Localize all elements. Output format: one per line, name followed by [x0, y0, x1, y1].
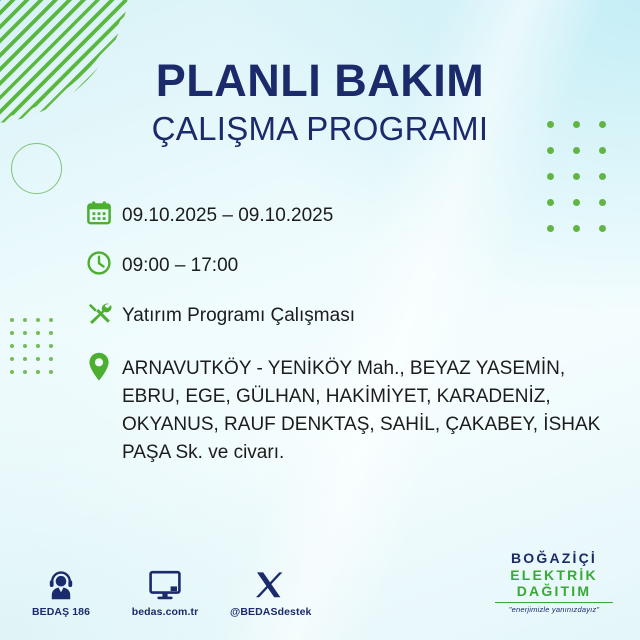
work-type-text: Yatırım Programı Çalışması [122, 300, 355, 328]
info-row-address: ARNAVUTKÖY - YENİKÖY Mah., BEYAZ YASEMİN… [86, 352, 606, 467]
address-text: ARNAVUTKÖY - YENİKÖY Mah., BEYAZ YASEMİN… [122, 352, 606, 467]
contact-label: @BEDASdestek [230, 606, 308, 618]
info-row-work-type: Yatırım Programı Çalışması [86, 300, 606, 334]
title-subtitle: ÇALIŞMA PROGRAMI [0, 110, 640, 148]
dot-grid-left-decoration [10, 318, 62, 383]
footer: BEDAŞ 186 bedas.com.tr [0, 544, 640, 624]
contact-call-center[interactable]: BEDAŞ 186 [22, 562, 100, 618]
title-main: PLANLI BAKIM [0, 58, 640, 104]
date-range-text: 09.10.2025 – 09.10.2025 [122, 200, 333, 228]
x-twitter-icon [230, 562, 308, 600]
location-pin-icon [86, 352, 122, 386]
planned-maintenance-poster: PLANLI BAKIM ÇALIŞMA PROGRAMI 09 [0, 0, 640, 640]
clock-icon [86, 250, 122, 284]
support-agent-icon [22, 562, 100, 600]
logo-tagline: "enerjimizle yanınızdayız" [484, 605, 624, 614]
logo-line-3: DAĞITIM [484, 583, 624, 600]
calendar-icon [86, 200, 122, 234]
contact-label: bedas.com.tr [126, 606, 204, 618]
contact-x-account[interactable]: @BEDASdestek [230, 562, 308, 618]
contact-website[interactable]: bedas.com.tr [126, 562, 204, 618]
bedas-logo: BOĞAZİÇİ ELEKTRİK DAĞITIM "enerjimizle y… [484, 550, 624, 614]
logo-divider [495, 602, 613, 603]
info-row-time: 09:00 – 17:00 [86, 250, 606, 284]
logo-line-1: BOĞAZİÇİ [484, 550, 624, 567]
logo-line-2: ELEKTRİK [484, 567, 624, 584]
circle-outline-decoration [11, 143, 62, 194]
contact-list: BEDAŞ 186 bedas.com.tr [22, 562, 308, 618]
tools-icon [86, 300, 122, 334]
monitor-icon [126, 562, 204, 600]
info-row-date: 09.10.2025 – 09.10.2025 [86, 200, 606, 234]
contact-label: BEDAŞ 186 [22, 606, 100, 618]
info-list: 09.10.2025 – 09.10.2025 09:00 – 17:00 Ya… [86, 200, 606, 481]
time-range-text: 09:00 – 17:00 [122, 250, 238, 278]
page-title: PLANLI BAKIM ÇALIŞMA PROGRAMI [0, 58, 640, 148]
